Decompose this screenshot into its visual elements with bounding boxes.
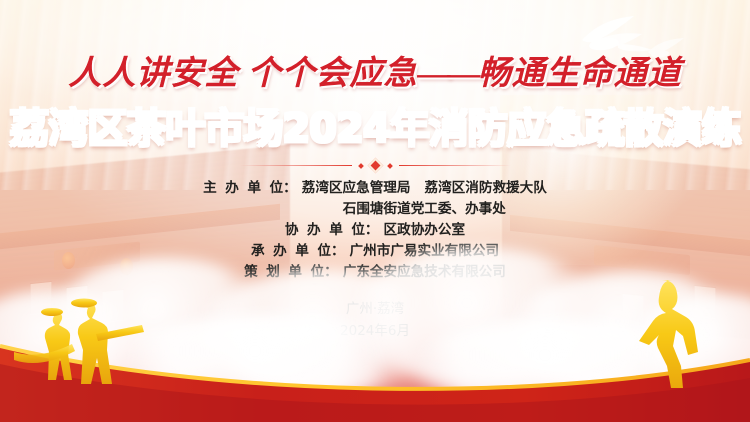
organizer-value: 区政协办公室	[384, 220, 466, 241]
organizer-colon: ：	[365, 220, 379, 241]
organizer-value: 荔湾区应急管理局荔湾区消防救援大队	[302, 178, 547, 199]
page-title: 荔湾区茶叶市场2024年消防应急疏散演练	[0, 96, 750, 154]
divider-dot-right	[387, 163, 393, 169]
organizer-value-b: 荔湾区消防救援大队	[425, 180, 547, 196]
slogan-part-1: 人人讲安全 个个会应急	[68, 56, 417, 92]
organizer-label: 策划单位	[244, 262, 324, 283]
divider-dot-left	[358, 163, 364, 169]
organizer-colon: ：	[331, 241, 345, 262]
organizer-label: 主办单位	[203, 178, 283, 199]
organizer-value: 广州市广易实业有限公司	[350, 241, 500, 262]
diamond-ornament-icon	[367, 158, 383, 174]
slogan-part-2: 畅通生命通道	[478, 56, 682, 92]
poster-slogan: 人人讲安全 个个会应急——畅通生命通道	[0, 46, 750, 94]
poster-root: 人人讲安全 个个会应急——畅通生命通道 荔湾区茶叶市场2024年消防应急疏散演练…	[0, 0, 750, 422]
organizer-colon: ：	[324, 262, 338, 283]
page-title-text: 荔湾区茶叶市场2024年消防应急疏散演练	[9, 106, 740, 152]
slogan-dash: ——	[418, 56, 478, 92]
divider-line-left	[240, 165, 352, 167]
organizer-continuation: 石围塘街道党工委、办事处	[343, 199, 506, 220]
organizer-label: 承办单位	[251, 241, 331, 262]
divider-line-right	[399, 165, 511, 167]
organizer-colon: ：	[283, 178, 297, 199]
organizers-block: 主办单位 ： 荔湾区应急管理局荔湾区消防救援大队 主办单位 ： 石围塘街道党工委…	[0, 178, 750, 283]
organizer-label: 协办单位	[285, 220, 365, 241]
organizer-value: 广东全安应急技术有限公司	[343, 262, 506, 283]
firefighters-silhouette-icon	[14, 294, 144, 386]
divider-ornament	[0, 160, 750, 171]
organizer-row: 主办单位 ： 荔湾区应急管理局荔湾区消防救援大队	[203, 178, 547, 199]
organizer-row: 协办单位 ： 区政协办公室	[285, 220, 465, 241]
organizer-value-a: 荔湾区应急管理局	[302, 180, 411, 196]
organizer-row-continuation: 主办单位 ： 石围塘街道党工委、办事处	[244, 199, 506, 220]
organizer-row: 策划单位 ： 广东全安应急技术有限公司	[244, 262, 506, 283]
running-person-silhouette-icon	[618, 276, 704, 388]
organizer-row: 承办单位 ： 广州市广易实业有限公司	[251, 241, 499, 262]
